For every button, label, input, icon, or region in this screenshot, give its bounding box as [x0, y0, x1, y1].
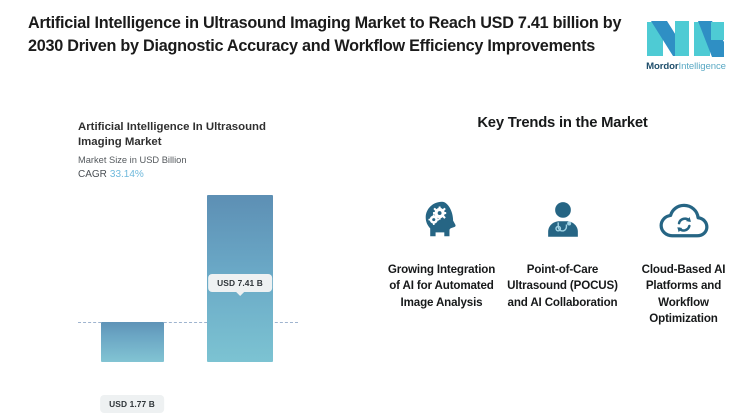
key-trends-panel: Key Trends in the Market: [375, 98, 750, 413]
header: Artificial Intelligence in Ultrasound Im…: [0, 0, 750, 92]
ai-head-gears-icon: [419, 196, 465, 244]
mordor-intelligence-logo-icon: [645, 16, 727, 58]
key-trends-heading: Key Trends in the Market: [375, 115, 750, 131]
trend-label: Cloud-Based AI Platforms and Workflow Op…: [623, 262, 744, 328]
cloud-sync-icon: [659, 196, 709, 244]
bar-value-badge-2030: USD 7.41 B: [208, 274, 272, 292]
trend-card-ai-integration: Growing Integration of AI for Automated …: [381, 196, 502, 311]
bar-2025: [101, 322, 164, 362]
trend-card-pocus: Point-of-Care Ultrasound (POCUS) and AI …: [502, 196, 623, 311]
trend-card-list: Growing Integration of AI for Automated …: [381, 196, 744, 328]
brand-word-light: Intelligence: [679, 61, 726, 72]
chart-plot-area: USD 1.77 B USD 7.41 B 2025 2030: [0, 98, 375, 413]
doctor-stethoscope-icon: [540, 196, 586, 244]
market-size-chart: Artificial Intelligence In Ultrasound Im…: [0, 98, 375, 413]
bar-value-badge-2025: USD 1.77 B: [100, 395, 164, 413]
trend-label: Growing Integration of AI for Automated …: [381, 262, 502, 311]
page-title: Artificial Intelligence in Ultrasound Im…: [28, 12, 638, 58]
brand-logo: MordorIntelligence: [638, 16, 734, 72]
brand-wordmark: MordorIntelligence: [646, 61, 726, 72]
trend-label: Point-of-Care Ultrasound (POCUS) and AI …: [502, 262, 623, 311]
infographic-page: Artificial Intelligence in Ultrasound Im…: [0, 0, 750, 413]
brand-word-bold: Mordor: [646, 61, 678, 72]
trend-card-cloud-ai: Cloud-Based AI Platforms and Workflow Op…: [623, 196, 744, 328]
